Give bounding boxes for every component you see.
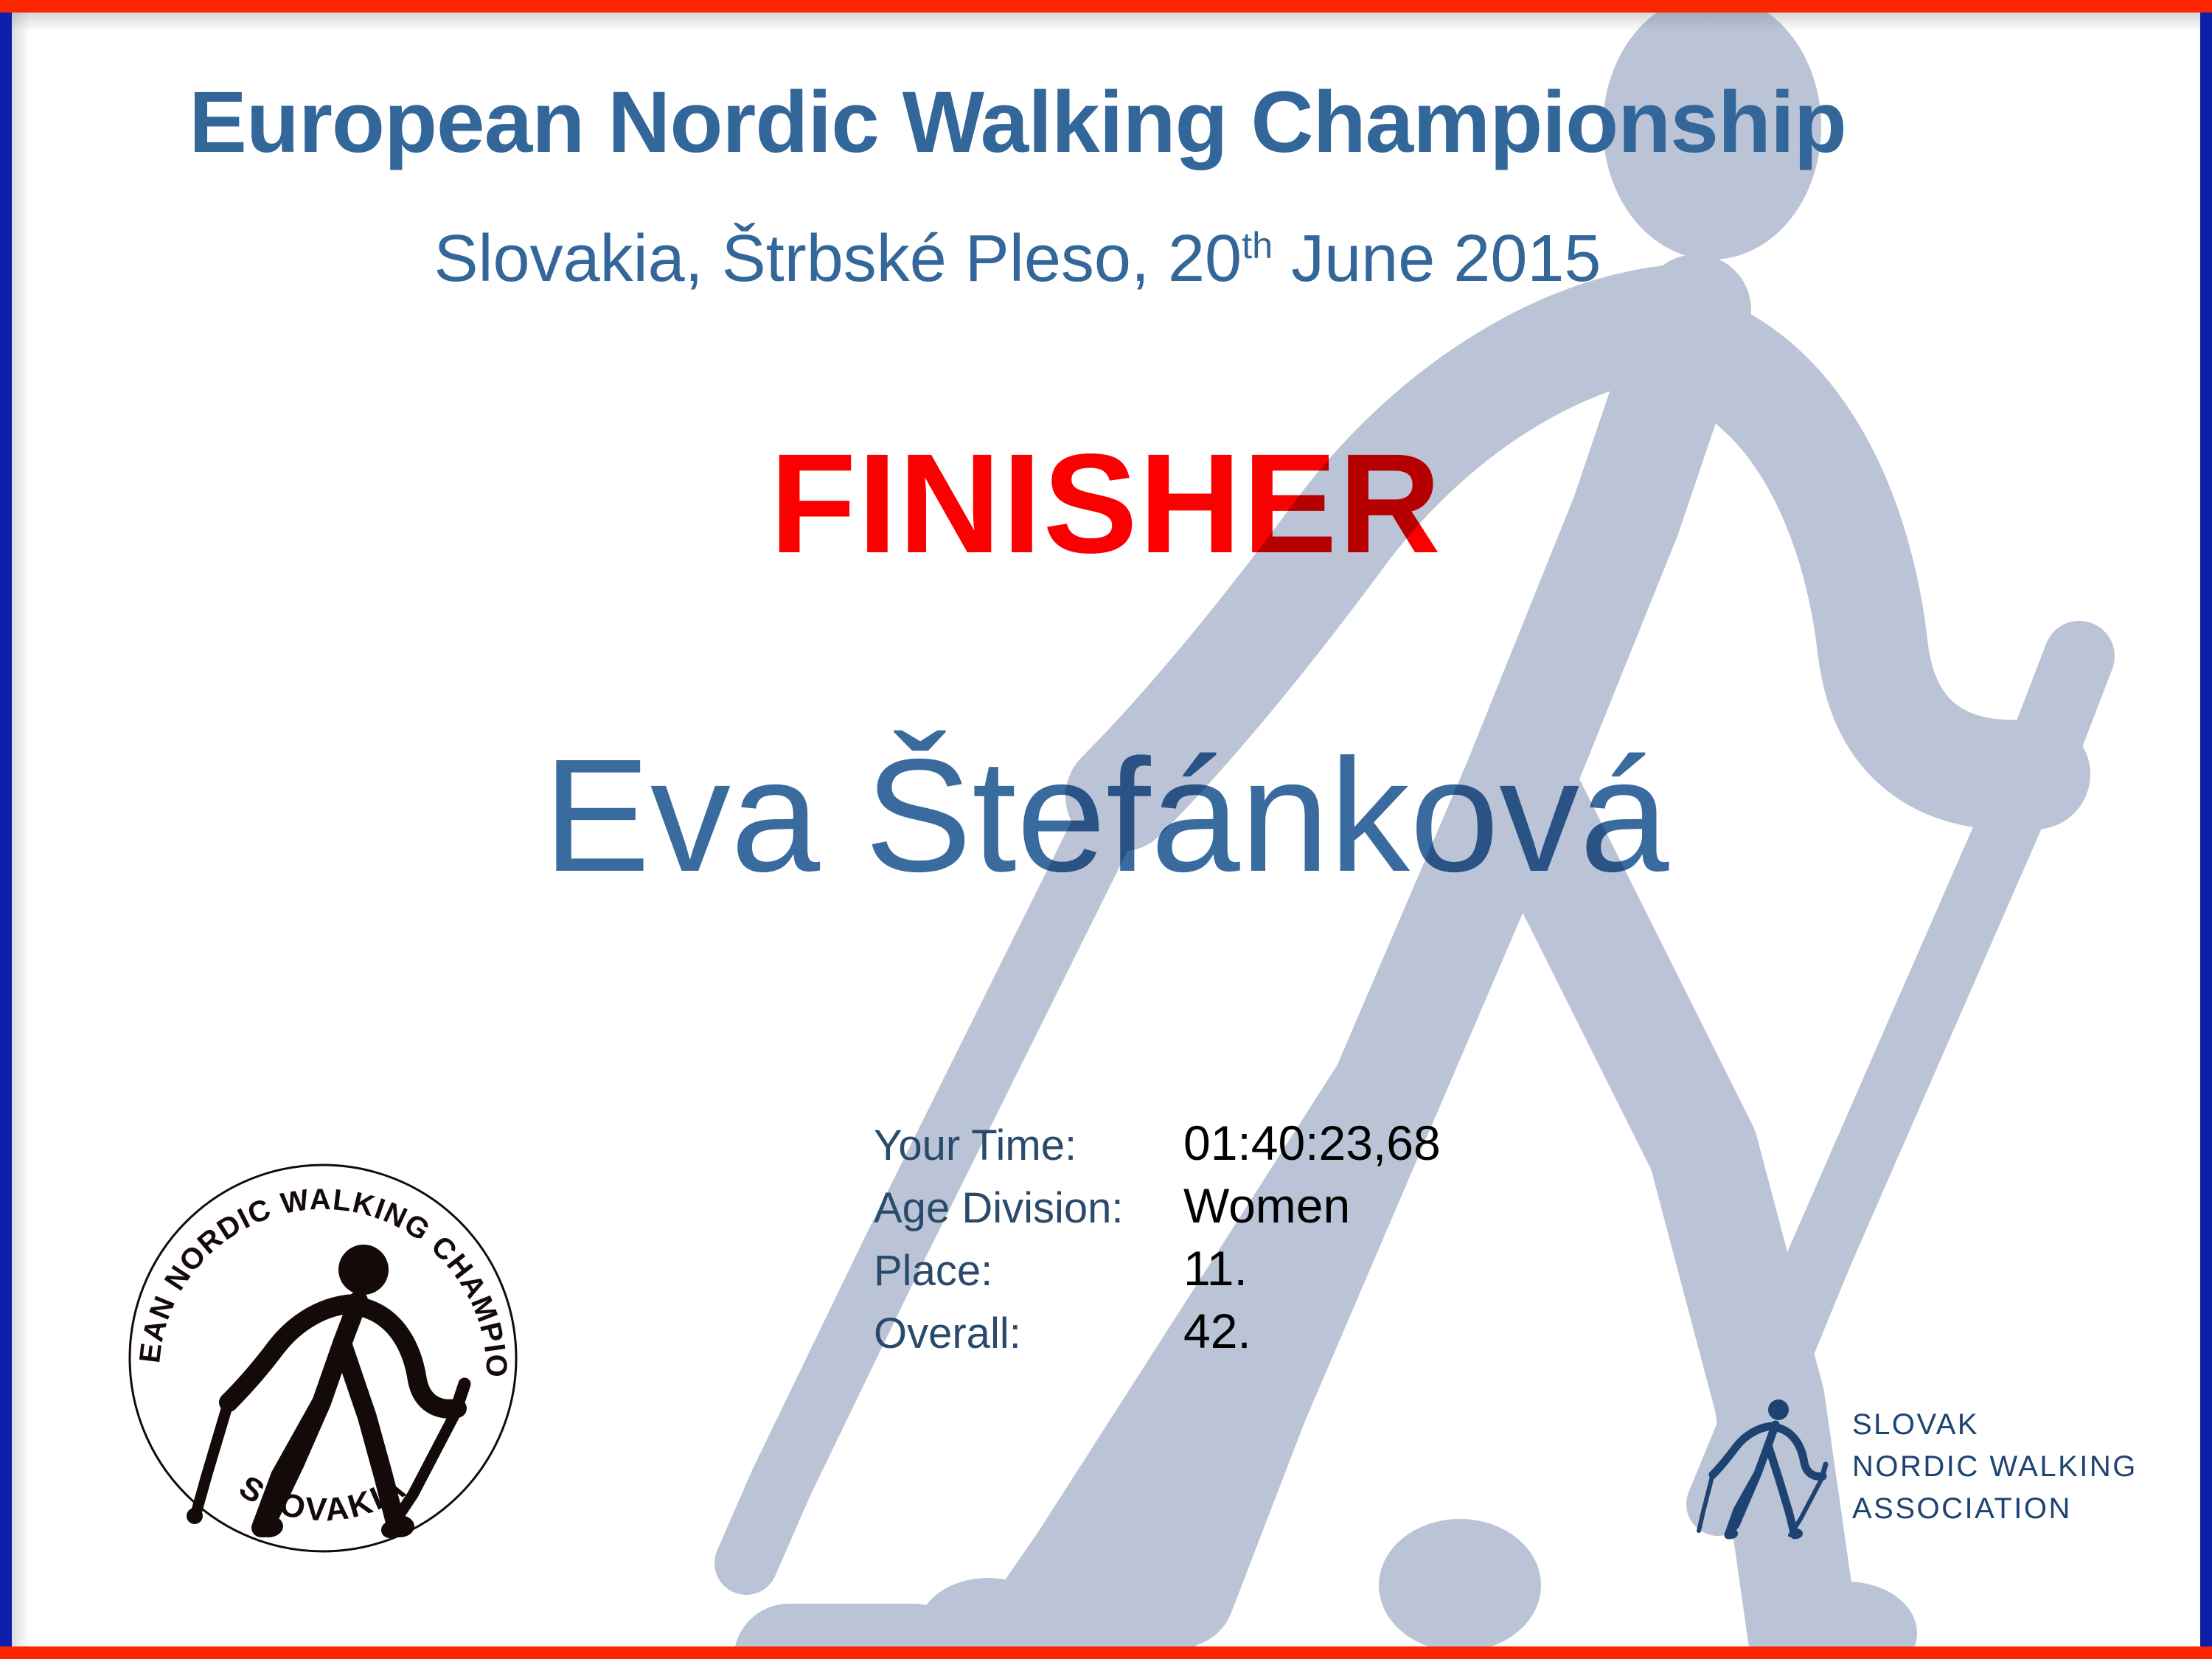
result-label-time: Your Time: (874, 1121, 1183, 1170)
result-value-time: 01:40:23,68 (1183, 1115, 1441, 1171)
enwc-round-logo: EUROPEAN NORDIC WALKING CHAMPIONSHIP SLO… (124, 1159, 522, 1557)
result-value-age-division: Women (1183, 1178, 1350, 1234)
results-block: Your Time: 01:40:23,68 Age Division: Wom… (874, 1115, 1441, 1366)
result-row-place: Place: 11. (874, 1240, 1441, 1303)
location-date-prefix: Slovakia, Štrbské Pleso, 20 (434, 222, 1242, 296)
result-row-age-division: Age Division: Women (874, 1178, 1441, 1240)
walker-pictogram-navy (1696, 1394, 1829, 1552)
result-label-place: Place: (874, 1246, 1183, 1295)
snwa-text-block: SLOVAK NORDIC WALKING ASSOCIATION (1852, 1404, 2138, 1529)
ordinal-suffix: th (1242, 224, 1273, 266)
border-right-blue (2200, 0, 2212, 1659)
athlete-name: Eva Štefánková (0, 724, 2212, 908)
slovak-nordic-walking-association-logo: SLOVAK NORDIC WALKING ASSOCIATION (1696, 1394, 2138, 1563)
border-bottom-red (0, 1646, 2212, 1659)
finisher-status: FINISHER (0, 422, 2212, 585)
location-date-suffix: June 2015 (1273, 222, 1601, 296)
result-label-age-division: Age Division: (874, 1183, 1183, 1233)
event-location-date: Slovakia, Štrbské Pleso, 20th June 2015 (0, 221, 2035, 297)
result-value-overall: 42. (1183, 1303, 1251, 1359)
snwa-line-1: SLOVAK (1852, 1404, 2138, 1446)
snwa-line-3: ASSOCIATION (1852, 1488, 2138, 1530)
championship-title: European Nordic Walking Championship (0, 72, 2035, 173)
border-left-blue (0, 0, 12, 1659)
result-row-time: Your Time: 01:40:23,68 (874, 1115, 1441, 1178)
certificate-page: European Nordic Walking Championship Slo… (0, 0, 2212, 1659)
result-row-overall: Overall: 42. (874, 1303, 1441, 1366)
result-label-overall: Overall: (874, 1309, 1183, 1358)
snwa-line-2: NORDIC WALKING (1852, 1446, 2138, 1488)
result-value-place: 11. (1183, 1240, 1248, 1296)
border-top-red (0, 0, 2212, 13)
